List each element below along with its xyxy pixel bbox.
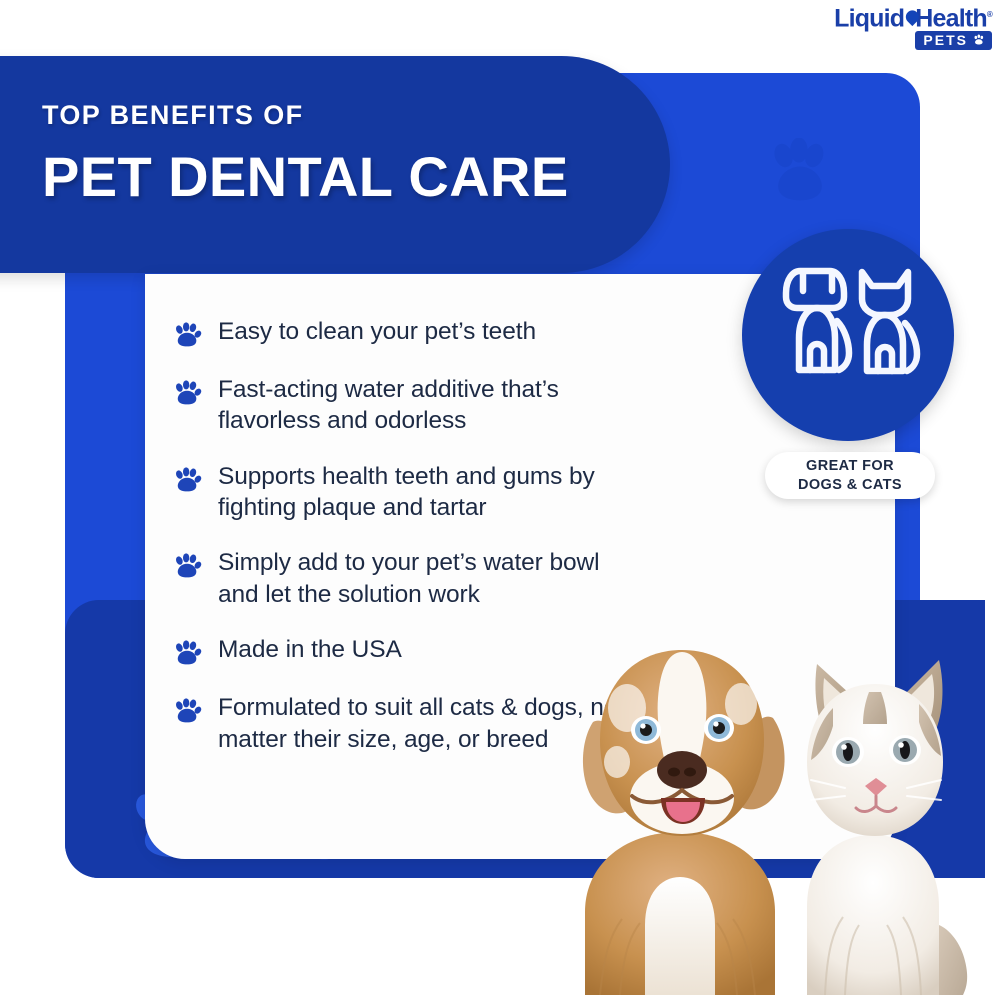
- dog-outline-icon: [786, 271, 849, 370]
- list-item: Supports health teeth and gums by fighti…: [173, 461, 643, 524]
- headline-banner: TOP BENEFITS OF PET DENTAL CARE: [0, 56, 670, 273]
- great-for-dogs-cats-pill: GREAT FOR DOGS & CATS: [765, 452, 935, 499]
- fluffy-tabby-cat-photo: [807, 660, 967, 995]
- cat-eye-right: [889, 735, 921, 765]
- trademark-symbol: ®: [987, 10, 992, 19]
- paw-icon: [173, 379, 202, 408]
- paw-icon: [173, 552, 202, 581]
- list-item: Simply add to your pet’s water bowl and …: [173, 547, 643, 610]
- dog-eye-left: [631, 716, 661, 744]
- pets-photo: [545, 612, 1000, 995]
- list-item: Fast-acting water additive that’s flavor…: [173, 374, 643, 437]
- paw-icon: [173, 321, 202, 350]
- page-title: PET DENTAL CARE: [42, 149, 569, 205]
- benefit-text: Simply add to your pet’s water bowl and …: [218, 547, 643, 610]
- benefit-text: Fast-acting water additive that’s flavor…: [218, 374, 643, 437]
- paw-icon: [173, 466, 202, 495]
- brand-name-part2: Health: [915, 4, 987, 32]
- paw-icon: [173, 639, 202, 668]
- brand-pets-badge: PETS: [915, 31, 992, 50]
- pill-line-2: DOGS & CATS: [798, 476, 902, 495]
- brand-logo[interactable]: LiquidHealth® PETS: [814, 2, 992, 50]
- benefit-text: Supports health teeth and gums by fighti…: [218, 461, 643, 524]
- infographic-canvas: TOP BENEFITS OF PET DENTAL CARE Easy to …: [0, 0, 1000, 995]
- benefit-text: Made in the USA: [218, 634, 402, 665]
- dog-eye-right: [704, 714, 734, 742]
- cat-outline-icon: [862, 272, 917, 371]
- brand-wordmark: LiquidHealth®: [814, 2, 992, 28]
- brand-pets-label: PETS: [923, 33, 968, 47]
- headline-text-group: TOP BENEFITS OF PET DENTAL CARE: [42, 102, 569, 205]
- dogs-and-cats-badge-circle: [742, 229, 954, 441]
- kicker-text: TOP BENEFITS OF: [42, 102, 569, 129]
- benefit-text: Easy to clean your pet’s teeth: [218, 316, 536, 347]
- pill-line-1: GREAT FOR: [806, 457, 894, 476]
- brand-name-part1: Liquid: [834, 4, 904, 32]
- australian-shepherd-dog-photo: [583, 650, 785, 995]
- water-drop-icon: [903, 9, 916, 29]
- list-item: Easy to clean your pet’s teeth: [173, 316, 643, 350]
- paw-icon: [173, 697, 202, 726]
- cat-eye-left: [832, 737, 864, 767]
- paw-icon: [973, 34, 985, 46]
- paw-watermark-icon: [765, 138, 835, 208]
